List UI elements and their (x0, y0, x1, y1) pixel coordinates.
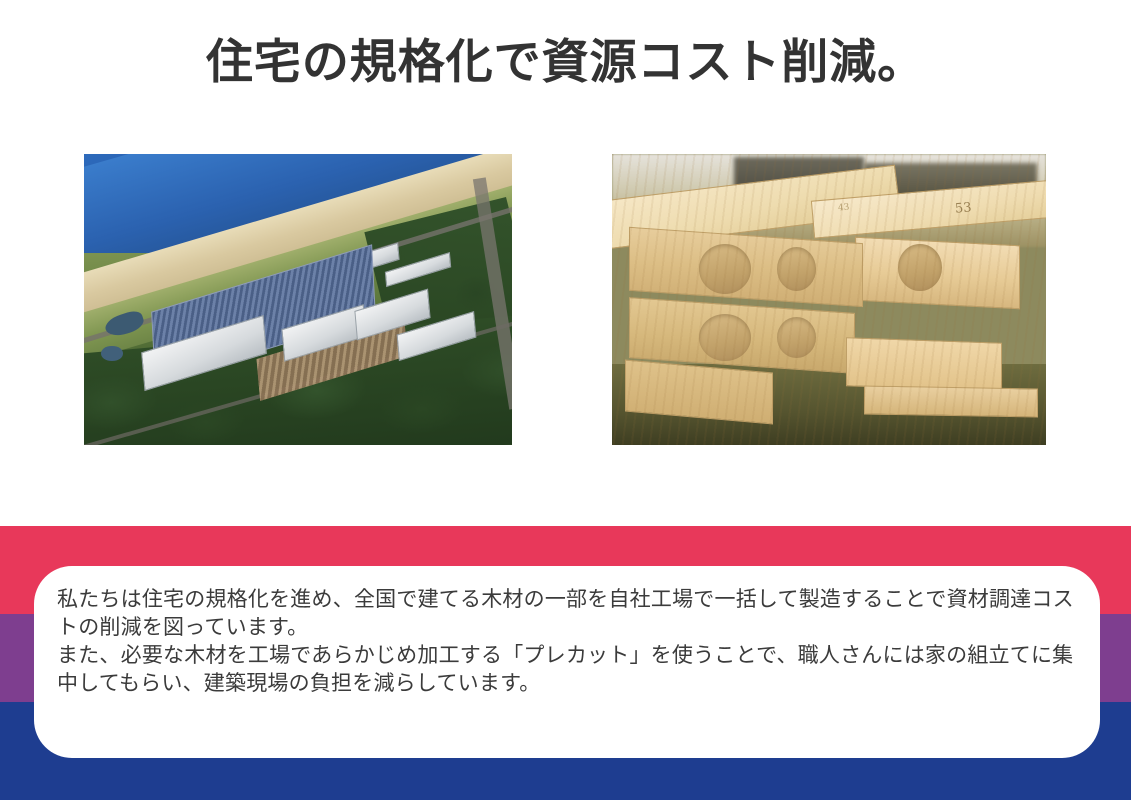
precut-timber-photo: 43 53 (612, 154, 1046, 445)
slide-root: 住宅の規格化で資源コスト削減。 (0, 0, 1131, 800)
caption-card: 私たちは住宅の規格化を進め、全国で建てる木材の一部を自社工場で一括して製造するこ… (34, 566, 1100, 758)
timber-scene: 43 53 (612, 154, 1046, 445)
joint-notch-1 (699, 244, 751, 293)
aerial-factory-photo (84, 154, 512, 445)
beam-mark-43-label: 43 (837, 203, 849, 214)
aerial-scene (84, 154, 512, 445)
page-title: 住宅の規格化で資源コスト削減。 (0, 36, 1131, 90)
beam-mark-53-label: 53 (954, 200, 972, 216)
joint-notch-3 (699, 314, 751, 361)
beam-small (846, 338, 1002, 393)
pond-small-shape (101, 346, 122, 361)
joint-notch-4 (777, 317, 816, 358)
joint-notch-5 (898, 244, 941, 291)
joint-notch-2 (777, 247, 816, 291)
beam-plank (864, 385, 1038, 417)
caption-body-text: 私たちは住宅の規格化を進め、全国で建てる木材の一部を自社工場で一括して製造するこ… (57, 585, 1077, 697)
